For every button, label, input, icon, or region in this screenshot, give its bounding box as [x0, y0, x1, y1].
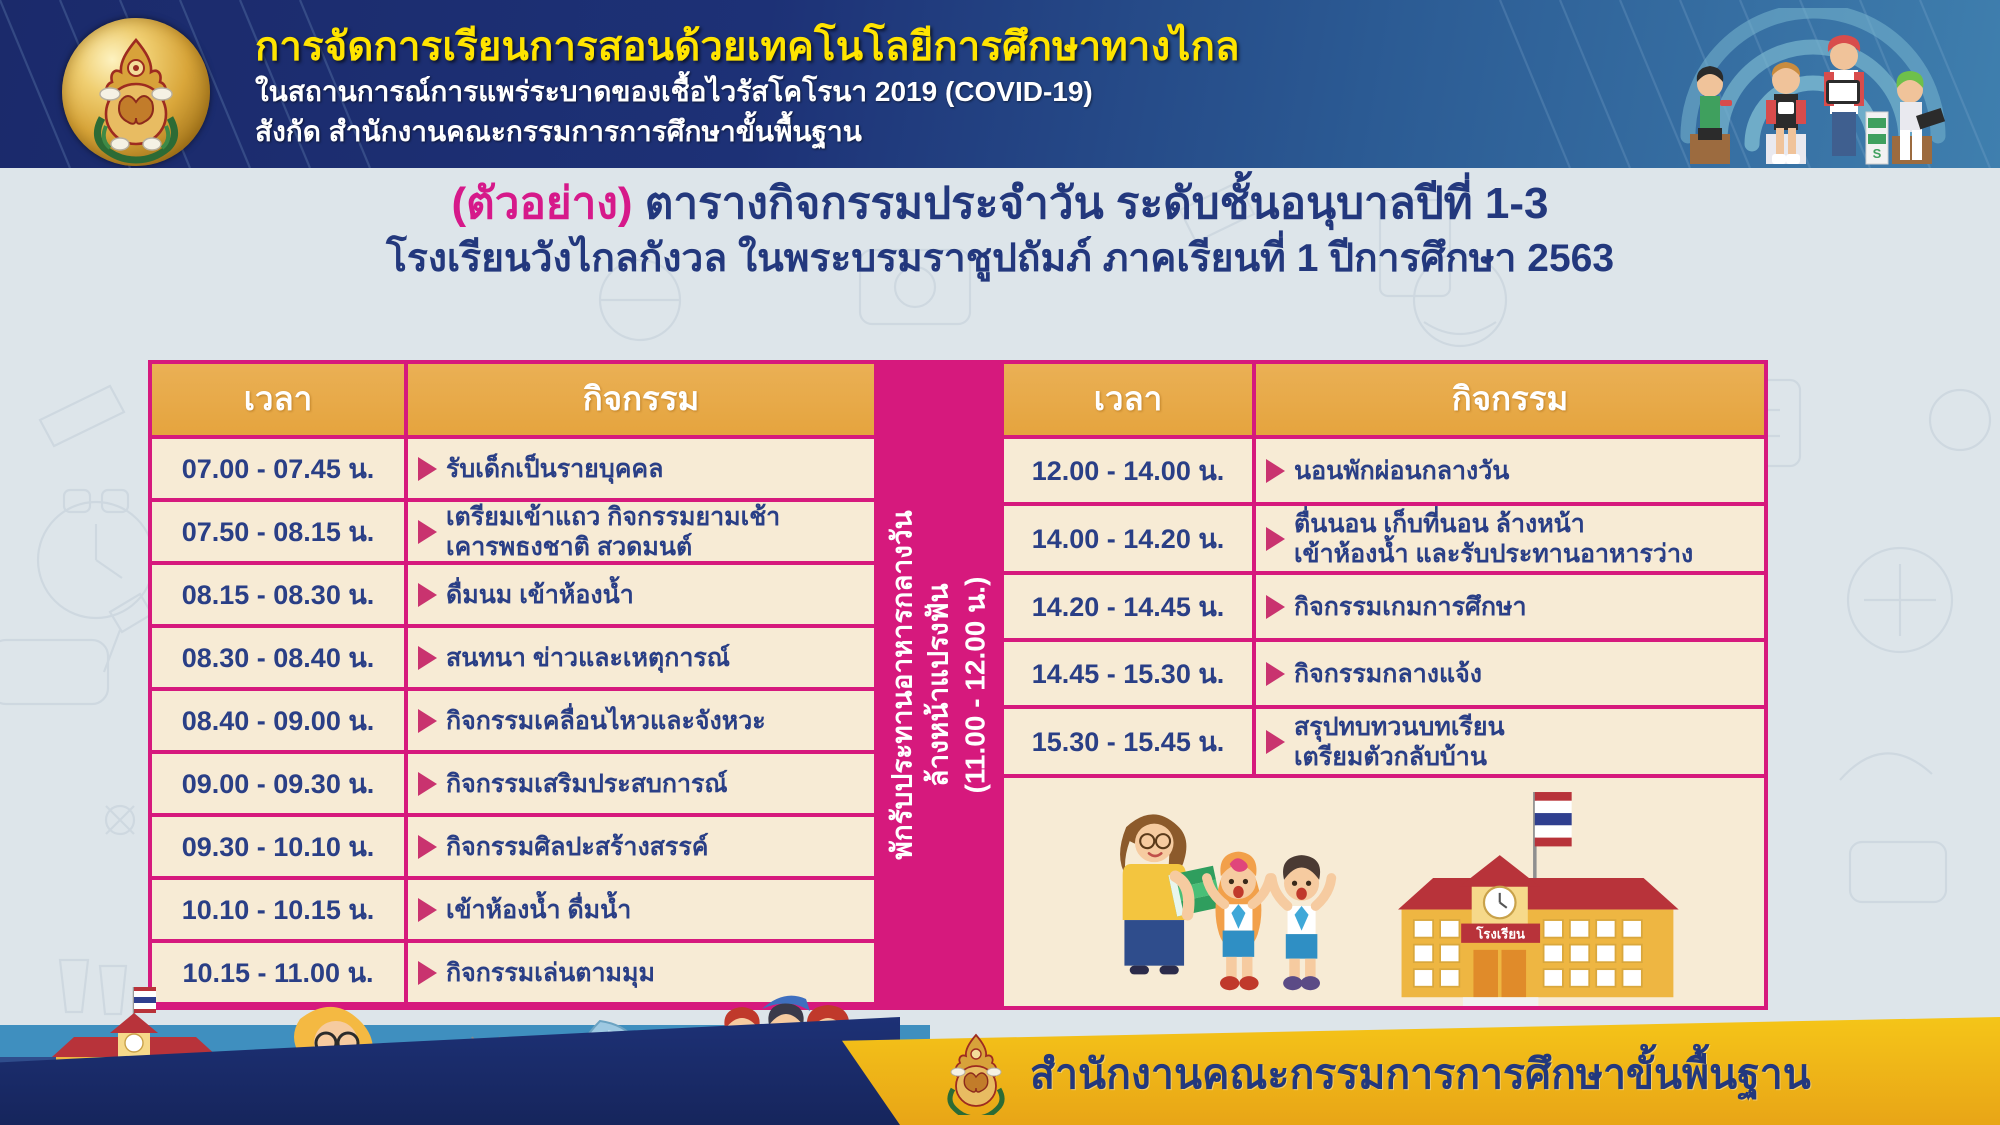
table-row: 09.00 - 09.30 น.กิจกรรมเสริมประสบการณ์: [152, 754, 874, 813]
bullet-triangle-icon: [418, 709, 437, 733]
bullet-triangle-icon: [418, 898, 437, 922]
row-activity-cell: กิจกรรมศิลปะสร้างสรรค์: [408, 817, 874, 876]
ministry-of-education-emblem: [62, 18, 210, 166]
illustration-graphic: โรงเรียน: [1004, 778, 1764, 1006]
sample-tag: (ตัวอย่าง): [452, 179, 633, 228]
morning-schedule-table: เวลา กิจกรรม 07.00 - 07.45 น.รับเด็กเป็น…: [148, 360, 878, 1010]
row-activity-cell: เข้าห้องน้ำ ดื่มน้ำ: [408, 880, 874, 939]
table-row: 14.20 - 14.45 น.กิจกรรมเกมการศึกษา: [1004, 575, 1764, 638]
row-time-cell: 14.20 - 14.45 น.: [1004, 575, 1252, 638]
page-title: (ตัวอย่าง) ตารางกิจกรรมประจำวัน ระดับชั้…: [0, 175, 2000, 234]
table-row: 08.15 - 08.30 น.ดื่มนม เข้าห้องน้ำ: [152, 565, 874, 624]
page-title-rest: ตารางกิจกรรมประจำวัน ระดับชั้นอนุบาลปีที…: [645, 179, 1549, 228]
header-text-block: การจัดการเรียนการสอนด้วยเทคโนโลยีการศึกษ…: [255, 22, 1240, 152]
lunch-line-1: พักรับประทานอาหารกลางวัน: [884, 510, 920, 860]
row-time-cell: 07.00 - 07.45 น.: [152, 439, 404, 498]
row-activity-text: กิจกรรมเคลื่อนไหวและจังหวะ: [446, 706, 766, 736]
table-row: 10.10 - 10.15 น.เข้าห้องน้ำ ดื่มน้ำ: [152, 880, 874, 939]
row-time-cell: 08.40 - 09.00 น.: [152, 691, 404, 750]
table-row: 08.40 - 09.00 น.กิจกรรมเคลื่อนไหวและจังห…: [152, 691, 874, 750]
bullet-triangle-icon: [1266, 459, 1285, 483]
morning-col-header-activity: กิจกรรม: [408, 364, 874, 435]
morning-table-header-row: เวลา กิจกรรม: [152, 364, 874, 435]
row-time-cell: 09.30 - 10.10 น.: [152, 817, 404, 876]
row-activity-text: กิจกรรมเสริมประสบการณ์: [446, 769, 728, 799]
school-building-figure: โรงเรียน: [1398, 792, 1679, 1006]
bullet-triangle-icon: [1266, 730, 1285, 754]
obec-emblem: [935, 1029, 1017, 1115]
bullet-triangle-icon: [418, 646, 437, 670]
bullet-triangle-icon: [418, 772, 437, 796]
row-activity-text: นอนพักผ่อนกลางวัน: [1294, 456, 1509, 486]
row-activity-text: ดื่มนม เข้าห้องน้ำ: [446, 580, 634, 610]
table-row: 07.50 - 08.15 น.เตรียมเข้าแถว กิจกรรมยาม…: [152, 502, 874, 561]
row-time-cell: 12.00 - 14.00 น.: [1004, 439, 1252, 502]
page-subtitle-block: (ตัวอย่าง) ตารางกิจกรรมประจำวัน ระดับชั้…: [0, 175, 2000, 284]
row-activity-text: กิจกรรมศิลปะสร้างสรรค์: [446, 832, 709, 862]
row-activity-text: กิจกรรมเกมการศึกษา: [1294, 592, 1527, 622]
row-time-cell: 15.30 - 15.45 น.: [1004, 709, 1252, 774]
row-activity-text: กิจกรรมกลางแจ้ง: [1294, 659, 1482, 689]
row-activity-text: เตรียมเข้าแถว กิจกรรมยามเช้าเคารพธงชาติ …: [446, 502, 780, 562]
row-activity-text: สนทนา ข่าวและเหตุการณ์: [446, 643, 730, 673]
lunch-line-3: (11.00 - 12.00 น.): [957, 510, 993, 860]
afternoon-col-header-activity: กิจกรรม: [1256, 364, 1764, 435]
row-activity-cell: สนทนา ข่าวและเหตุการณ์: [408, 628, 874, 687]
bullet-triangle-icon: [1266, 595, 1285, 619]
footer-navy-wedge: [0, 1017, 900, 1125]
bullet-triangle-icon: [418, 961, 437, 985]
table-row: 14.00 - 14.20 น.ตื่นนอน เก็บที่นอน ล้างห…: [1004, 506, 1764, 571]
row-activity-cell: กิจกรรมกลางแจ้ง: [1256, 642, 1764, 705]
row-activity-cell: สรุปทบทวนบทเรียนเตรียมตัวกลับบ้าน: [1256, 709, 1764, 774]
row-activity-cell: นอนพักผ่อนกลางวัน: [1256, 439, 1764, 502]
lunch-break-label: พักรับประทานอาหารกลางวัน ล้างหน้าแปรงฟัน…: [884, 510, 993, 860]
afternoon-table-header-row: เวลา กิจกรรม: [1004, 364, 1764, 435]
page-header: การจัดการเรียนการสอนด้วยเทคโนโลยีการศึกษ…: [0, 0, 2000, 168]
school-sign-label: โรงเรียน: [1475, 925, 1525, 941]
table-row: 08.30 - 08.40 น.สนทนา ข่าวและเหตุการณ์: [152, 628, 874, 687]
row-activity-text: สรุปทบทวนบทเรียนเตรียมตัวกลับบ้าน: [1294, 712, 1505, 772]
row-activity-cell: กิจกรรมเคลื่อนไหวและจังหวะ: [408, 691, 874, 750]
bullet-triangle-icon: [418, 457, 437, 481]
bullet-triangle-icon: [418, 583, 437, 607]
daily-schedule-board: เวลา กิจกรรม 07.00 - 07.45 น.รับเด็กเป็น…: [148, 360, 1870, 1010]
emblem-glyph: [62, 18, 210, 166]
row-activity-cell: ตื่นนอน เก็บที่นอน ล้างหน้าเข้าห้องน้ำ แ…: [1256, 506, 1764, 571]
lunch-line-2: ล้างหน้าแปรงฟัน: [921, 510, 957, 860]
afternoon-col-header-time: เวลา: [1004, 364, 1252, 435]
morning-col-header-time: เวลา: [152, 364, 404, 435]
header-title: การจัดการเรียนการสอนด้วยเทคโนโลยีการศึกษ…: [255, 22, 1240, 72]
girl-student-figure: [1207, 852, 1270, 991]
students-wifi-illustration: S: [1648, 8, 1978, 168]
svg-text:S: S: [1873, 146, 1882, 161]
row-time-cell: 14.45 - 15.30 น.: [1004, 642, 1252, 705]
row-activity-cell: กิจกรรมเสริมประสบการณ์: [408, 754, 874, 813]
bullet-triangle-icon: [418, 835, 437, 859]
teacher-students-school-illustration: โรงเรียน: [1004, 778, 1764, 1006]
row-time-cell: 10.10 - 10.15 น.: [152, 880, 404, 939]
table-row: 14.45 - 15.30 น.กิจกรรมกลางแจ้ง: [1004, 642, 1764, 705]
header-subtitle-2: สังกัด สำนักงานคณะกรรมการการศึกษาขั้นพื้…: [255, 112, 1240, 152]
row-activity-cell: รับเด็กเป็นรายบุคคล: [408, 439, 874, 498]
row-activity-cell: กิจกรรมเกมการศึกษา: [1256, 575, 1764, 638]
bullet-triangle-icon: [418, 520, 437, 544]
boy-student-figure: [1272, 855, 1332, 990]
bullet-triangle-icon: [1266, 527, 1285, 551]
table-row: 15.30 - 15.45 น.สรุปทบทวนบทเรียนเตรียมตั…: [1004, 709, 1764, 774]
row-time-cell: 07.50 - 08.15 น.: [152, 502, 404, 561]
afternoon-schedule-table: เวลา กิจกรรม 12.00 - 14.00 น.นอนพักผ่อนก…: [1000, 360, 1768, 1010]
row-time-cell: 08.15 - 08.30 น.: [152, 565, 404, 624]
page-subtitle-line2: โรงเรียนวังไกลกังวล ในพระบรมราชูปถัมภ์ ภ…: [0, 234, 2000, 285]
bullet-triangle-icon: [1266, 662, 1285, 686]
header-subtitle-1: ในสถานการณ์การแพร่ระบาดของเชื้อไวรัสโคโร…: [255, 72, 1240, 112]
table-row: 07.00 - 07.45 น.รับเด็กเป็นรายบุคคล: [152, 439, 874, 498]
row-time-cell: 08.30 - 08.40 น.: [152, 628, 404, 687]
row-time-cell: 09.00 - 09.30 น.: [152, 754, 404, 813]
page-footer: สำนักงานคณะกรรมการการศึกษาขั้นพื้นฐาน: [0, 1017, 2000, 1125]
lunch-break-divider: พักรับประทานอาหารกลางวัน ล้างหน้าแปรงฟัน…: [878, 360, 1000, 1010]
row-activity-text: รับเด็กเป็นรายบุคคล: [446, 454, 663, 484]
row-activity-text: เข้าห้องน้ำ ดื่มน้ำ: [446, 895, 631, 925]
table-row: 09.30 - 10.10 น.กิจกรรมศิลปะสร้างสรรค์: [152, 817, 874, 876]
row-activity-text: ตื่นนอน เก็บที่นอน ล้างหน้าเข้าห้องน้ำ แ…: [1294, 509, 1693, 569]
footer-organization-label: สำนักงานคณะกรรมการการศึกษาขั้นพื้นฐาน: [1030, 1042, 1811, 1107]
row-activity-text: กิจกรรมเล่นตามมุม: [446, 958, 655, 988]
row-time-cell: 14.00 - 14.20 น.: [1004, 506, 1252, 571]
table-row: 12.00 - 14.00 น.นอนพักผ่อนกลางวัน: [1004, 439, 1764, 502]
row-activity-cell: เตรียมเข้าแถว กิจกรรมยามเช้าเคารพธงชาติ …: [408, 502, 874, 561]
teacher-figure: [1120, 814, 1222, 974]
row-activity-cell: ดื่มนม เข้าห้องน้ำ: [408, 565, 874, 624]
